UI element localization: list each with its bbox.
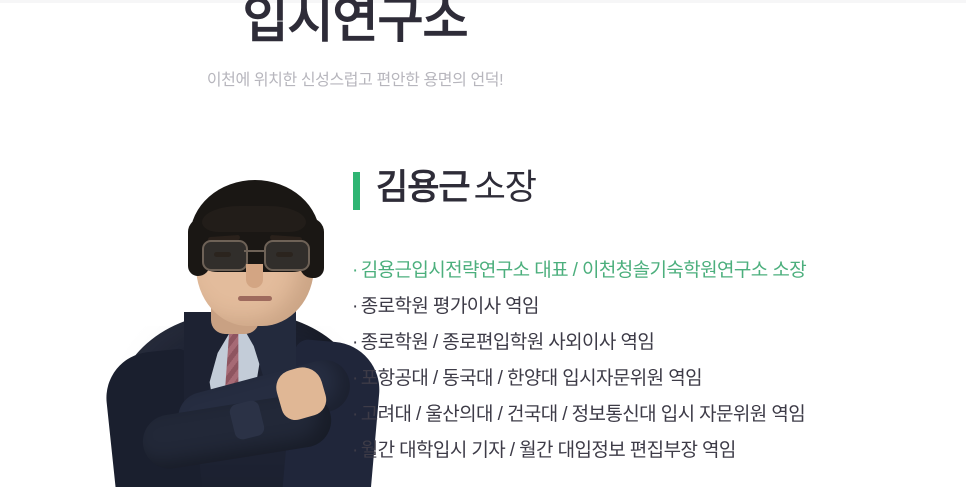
profile-name-heading: 김용근소장 xyxy=(376,163,536,213)
hair-fringe xyxy=(202,206,306,232)
list-item: ·김용근입시전략연구소 대표 / 이천청솔기숙학원연구소 소장 xyxy=(352,253,952,289)
list-item: ·고려대 / 울산의대 / 건국대 / 정보통신대 입시 자문위원 역임 xyxy=(352,397,952,433)
page-subtitle: 이천에 위치한 신성스럽고 편안한 용면의 언덕! xyxy=(0,70,710,92)
mouth xyxy=(238,296,272,301)
list-item: ·포항공대 / 동국대 / 한양대 입시자문위원 역임 xyxy=(352,361,952,397)
credential-text: 종로학원 평가이사 역임 xyxy=(361,296,539,317)
bullet-icon: · xyxy=(352,404,358,425)
credential-text: 김용근입시전략연구소 대표 / 이천청솔기숙학원연구소 소장 xyxy=(361,260,806,281)
profile-section: 김용근소장 ·김용근입시전략연구소 대표 / 이천청솔기숙학원연구소 소장 ·종… xyxy=(0,150,966,487)
portrait-illustration xyxy=(80,166,390,487)
bullet-icon: · xyxy=(352,368,358,389)
list-item: ·종로학원 평가이사 역임 xyxy=(352,289,952,325)
bullet-icon: · xyxy=(352,332,358,353)
page-title: 입시연구소 xyxy=(0,0,710,46)
name-row: 김용근소장 xyxy=(352,150,952,206)
list-item: ·종로학원 / 종로편입학원 사외이사 역임 xyxy=(352,325,952,361)
profile-info: 김용근소장 ·김용근입시전략연구소 대표 / 이천청솔기숙학원연구소 소장 ·종… xyxy=(352,150,952,206)
credential-text: 월간 대학입시 기자 / 월간 대입정보 편집부장 역임 xyxy=(361,440,736,461)
profile-role: 소장 xyxy=(474,168,536,207)
bullet-icon: · xyxy=(352,296,358,317)
eyeglass-bridge xyxy=(244,250,264,252)
credential-text: 포항공대 / 동국대 / 한양대 입시자문위원 역임 xyxy=(361,368,702,389)
nose xyxy=(246,264,263,288)
eye-right xyxy=(276,252,293,257)
profile-name: 김용근 xyxy=(376,168,470,207)
credential-text: 고려대 / 울산의대 / 건국대 / 정보통신대 입시 자문위원 역임 xyxy=(361,404,805,425)
list-item: ·월간 대학입시 기자 / 월간 대입정보 편집부장 역임 xyxy=(352,433,952,469)
portrait-photo xyxy=(80,166,390,487)
eye-left xyxy=(214,252,231,257)
profile-page: 입시연구소 이천에 위치한 신성스럽고 편안한 용면의 언덕! xyxy=(0,0,966,487)
accent-bar-icon xyxy=(353,172,360,210)
credential-text: 종로학원 / 종로편입학원 사외이사 역임 xyxy=(361,332,654,353)
credentials-list: ·김용근입시전략연구소 대표 / 이천청솔기숙학원연구소 소장 ·종로학원 평가… xyxy=(352,253,952,469)
bullet-icon: · xyxy=(352,260,358,281)
bullet-icon: · xyxy=(352,440,358,461)
